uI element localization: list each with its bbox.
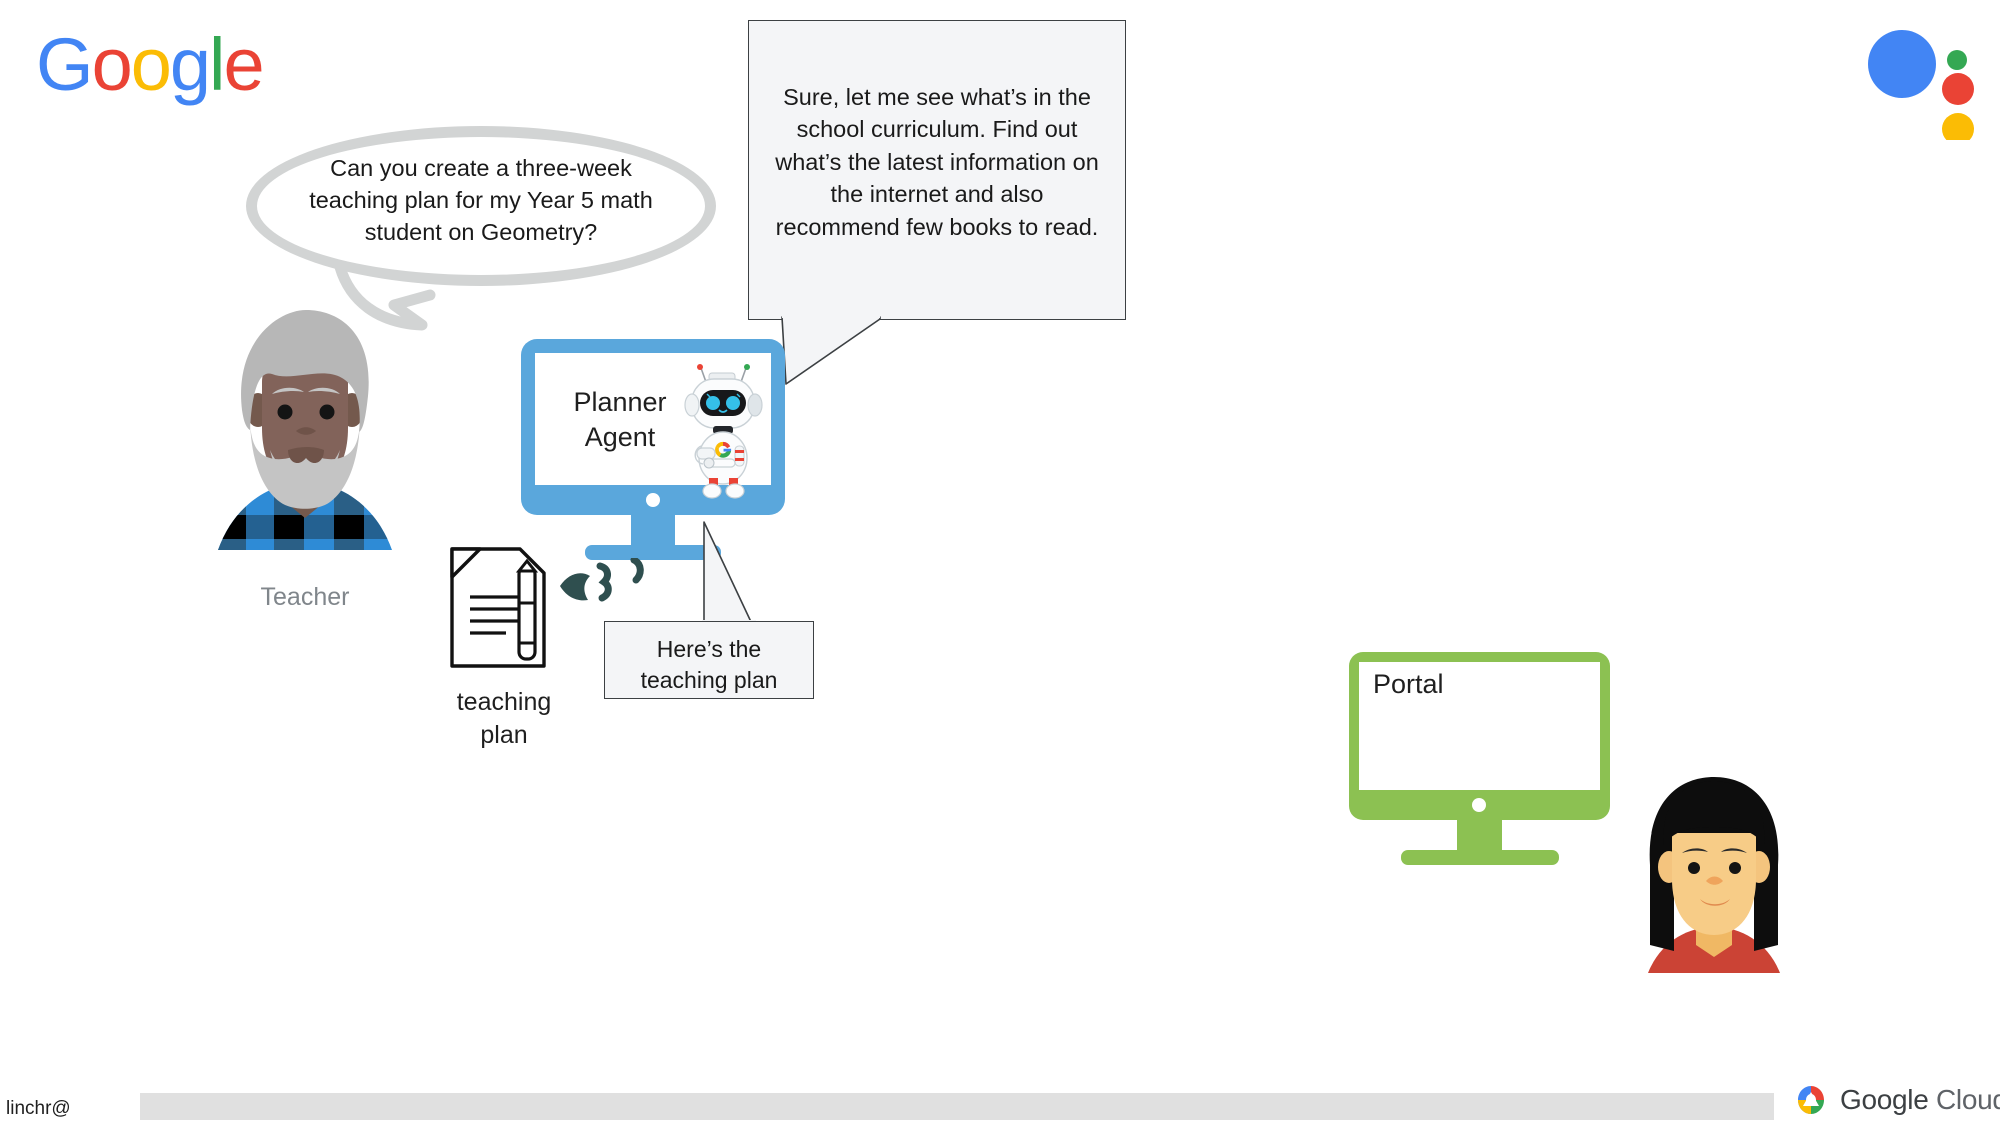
portal-label: Portal [1373, 669, 1444, 700]
google-cloud-wordmark: Google Cloud [1840, 1084, 2000, 1116]
footer-username: linchr@ [6, 1098, 71, 1120]
teaching-plan-label: teaching plan [414, 686, 594, 752]
footer-progress-bar [140, 1093, 1774, 1120]
teaching-plan-speech-bubble: Here’s the teaching plan [604, 621, 814, 699]
planner-agent-label-line1: Planner [555, 385, 685, 420]
google-logo-letter-g1: G [36, 28, 92, 102]
teaching-plan-label-line1: teaching [414, 686, 594, 719]
student-eye-right [1729, 862, 1741, 874]
teacher-label: Teacher [216, 583, 394, 612]
planner-agent-label: Planner Agent [555, 385, 685, 454]
teacher-speech-bubble: Can you create a three-week teaching pla… [246, 126, 716, 286]
google-logo-letter-o1: o [92, 28, 131, 102]
student-eye-left [1688, 862, 1700, 874]
document-pen [519, 561, 535, 659]
google-logo-letter-o2: o [131, 28, 170, 102]
planner-bubble-tail-icon [780, 316, 900, 396]
assistant-red-dot [1942, 73, 1974, 105]
teacher-eye-left [278, 405, 293, 420]
gcloud-brand-google: Google [1840, 1084, 1929, 1115]
teaching-plan-label-line2: plan [414, 719, 594, 752]
assistant-blue-dot [1868, 30, 1936, 98]
robot-mascot-icon [679, 364, 769, 499]
planner-monitor-neck [631, 515, 675, 549]
assistant-green-dot [1947, 50, 1967, 70]
plan-bubble-tail-icon [700, 520, 790, 630]
teaching-plan-bubble-text: Here’s the teaching plan [613, 634, 805, 696]
handoff-arrow-icon [558, 558, 668, 618]
portal-monitor-power-dot [1472, 798, 1486, 812]
planner-monitor-power-dot [646, 493, 660, 507]
google-logo: Google [36, 28, 263, 102]
google-assistant-icon [1860, 30, 1980, 140]
google-logo-letter-e: e [223, 28, 262, 102]
student-avatar [1642, 775, 1787, 975]
teaching-plan-document-icon [448, 545, 558, 670]
plan-bubble-line1: Here’s the [613, 634, 805, 665]
portal-monitor-base [1401, 850, 1559, 865]
planner-agent-speech-bubble: Sure, let me see what’s in the school cu… [748, 20, 1126, 320]
portal-monitor-neck [1457, 820, 1502, 854]
teacher-eye-right [320, 405, 335, 420]
planner-agent-label-line2: Agent [555, 420, 685, 455]
assistant-yellow-dot [1942, 113, 1974, 140]
plan-bubble-line2: teaching plan [613, 665, 805, 696]
gcloud-brand-cloud: Cloud [1929, 1084, 2000, 1115]
teacher-avatar [216, 300, 394, 560]
teacher-bubble-text: Can you create a three-week teaching pla… [296, 152, 666, 249]
planner-agent-bubble-text: Sure, let me see what’s in the school cu… [771, 81, 1103, 243]
google-logo-letter-l: l [209, 28, 223, 102]
google-logo-letter-g2: g [170, 28, 209, 102]
